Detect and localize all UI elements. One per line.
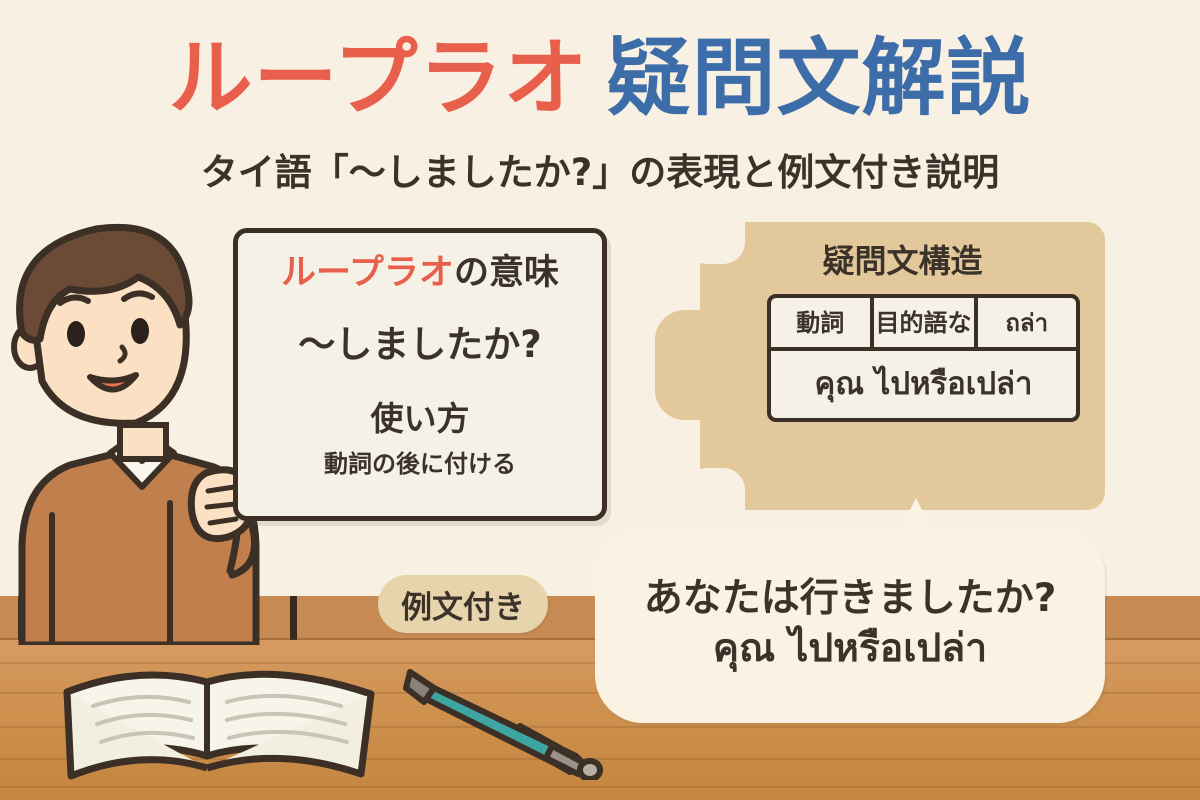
title-keyword-katakana: ループラオ xyxy=(169,36,589,120)
open-book xyxy=(55,648,385,788)
structure-cell-verb: 動詞 xyxy=(771,298,870,347)
meaning-heading: ループラオの意味 xyxy=(281,255,559,292)
title-topic: 疑問文解説 xyxy=(606,36,1031,120)
meaning-value: 〜しましたか? xyxy=(298,314,541,368)
meaning-keyword: ループラオ xyxy=(281,253,454,293)
structure-cell-particle: ถล่า xyxy=(974,298,1077,347)
status-badge: 例文付き xyxy=(378,575,548,633)
example-speech-bubble: あなたは行きましたか? คุณ ไปหรือเปล่า xyxy=(595,528,1105,723)
structure-table: 動詞 目的語な ถล่า คุณ ไปหรือเปล่า xyxy=(767,294,1080,422)
page-subtitle: タイ語「〜しましたか?」の表現と例文付き説明 xyxy=(0,142,1200,196)
structure-title: 疑問文構造 xyxy=(700,236,1105,282)
structure-puzzle-card: 疑問文構造 動詞 目的語な ถล่า คุณ ไปหรือเปล่า xyxy=(655,222,1105,510)
structure-example-row: คุณ ไปหรือเปล่า xyxy=(771,351,1076,418)
infographic-canvas: ループラオ 疑問文解説 タイ語「〜しましたか?」の表現と例文付き説明 xyxy=(0,0,1200,800)
usage-detail: 動詞の後に付ける xyxy=(324,444,516,479)
usage-label: 使い方 xyxy=(371,392,470,440)
meaning-card: ループラオの意味 〜しましたか? 使い方 動詞の後に付ける xyxy=(233,228,607,521)
example-thai: คุณ ไปหรือเปล่า xyxy=(713,625,987,674)
page-title: ループラオ 疑問文解説 xyxy=(0,24,1200,132)
pen xyxy=(400,660,610,780)
puzzle-notch-bottom xyxy=(685,468,745,510)
structure-cell-object: 目的語な xyxy=(870,298,974,347)
example-japanese: あなたは行きましたか? xyxy=(644,578,1057,621)
meaning-heading-suffix: の意味 xyxy=(454,253,559,293)
structure-header-row: 動詞 目的語な ถล่า xyxy=(771,298,1076,351)
structure-example-thai: คุณ ไปหรือเปล่า xyxy=(771,351,1076,418)
